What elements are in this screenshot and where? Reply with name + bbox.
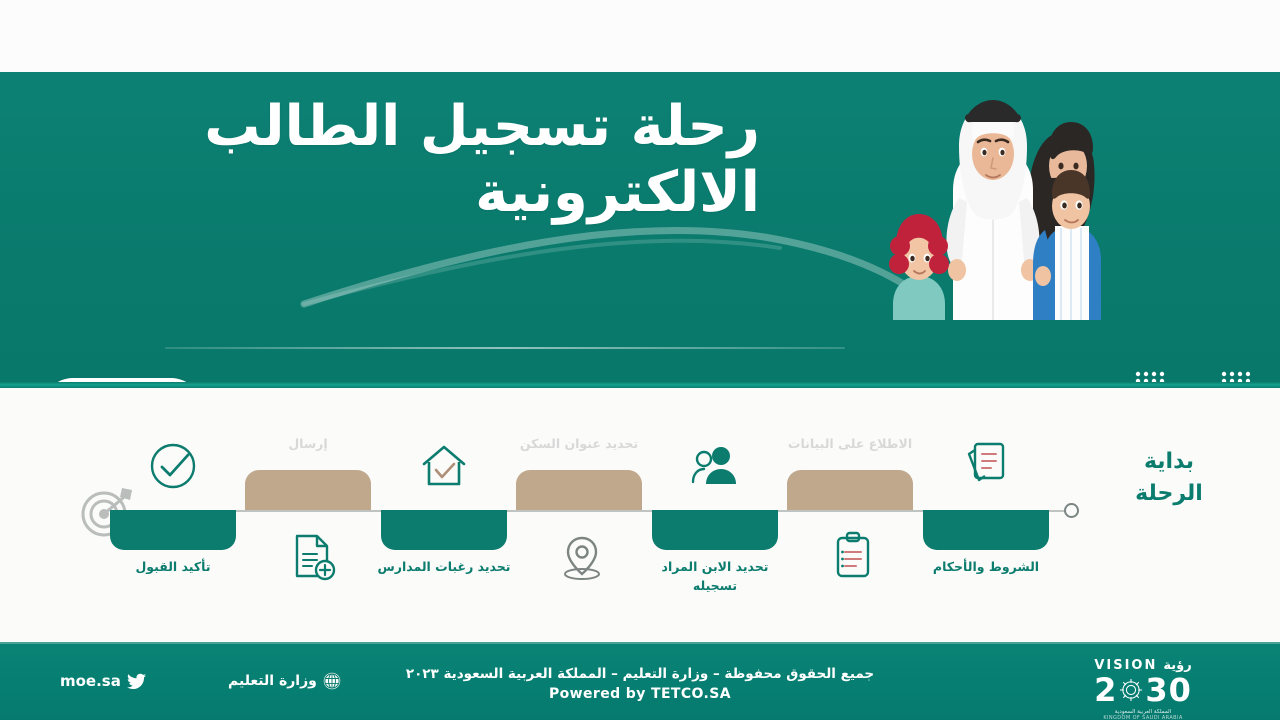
timeline-block-school-preferences [381,510,507,550]
clipboard-icon [825,528,881,584]
timeline-caption-complete: إرسال [233,435,383,454]
timeline-block-review-data [787,470,913,510]
timeline-block-acceptance [110,510,236,550]
home-check-icon [416,438,472,494]
vision-subtitle-english: KINGDOM OF SAUDI ARABIA [1068,715,1218,720]
page-title: رحلة تسجيل الطالب الالكترونية [60,94,760,226]
vision-emblem-icon [1118,677,1144,703]
timeline-caption-residence-address: تحديد عنوان السكن [504,435,654,454]
timeline-block-select-child [652,510,778,550]
vision-number-left: 2 [1094,674,1117,706]
journey-section: بداية الرحلة تأكيد القبول إر [0,388,1280,642]
check-circle-icon [145,438,201,494]
hero-title-line2: الالكترونية [60,160,760,226]
page-root: رحلة تسجيل الطالب الالكترونية [0,0,1280,720]
page-footer: moe.sa وزارة التعليم جميع الحقوق محفوظة … [0,642,1280,720]
saudi-family-illustration [875,80,1125,320]
registration-timeline: تأكيد القبول إرسال تحديد رغبات المدارس [70,430,1080,605]
journey-start-label: بداية الرحلة [1094,446,1244,510]
hero-title-line1: رحلة تسجيل الطالب [204,94,760,159]
vision-2030-logo: VISION رؤية 2 30 المملكة العربية السعودي… [1068,658,1218,720]
journey-label-line2: الرحلة [1135,481,1203,506]
hero-banner: رحلة تسجيل الطالب الالكترونية [0,72,1280,388]
vision-wordmark: VISION رؤية [1068,658,1218,673]
timeline-block-residence-address [516,470,642,510]
documents-icon [958,436,1014,492]
timeline-caption-review-data: الاطلاع على البيانات [775,435,925,454]
users-icon [687,438,743,494]
timeline-start-dot [1064,503,1079,518]
timeline-caption-acceptance: تأكيد القبول [98,558,248,577]
top-white-gutter [0,0,1280,72]
timeline-caption-select-child: تحديد الابن المراد تسجيله [640,558,790,596]
location-pin-icon [554,528,610,584]
vision-number: 2 30 [1068,674,1218,706]
vision-number-right: 30 [1145,674,1192,706]
hero-divider [165,347,845,349]
timeline-block-complete [245,470,371,510]
timeline-caption-school-preferences: تحديد رغبات المدارس [369,558,519,577]
footer-top-divider [0,642,1280,644]
document-add-icon [283,528,339,584]
journey-label-line1: بداية [1144,449,1194,474]
timeline-block-terms [923,510,1049,550]
timeline-caption-terms: الشروط والأحكام [911,558,1061,577]
